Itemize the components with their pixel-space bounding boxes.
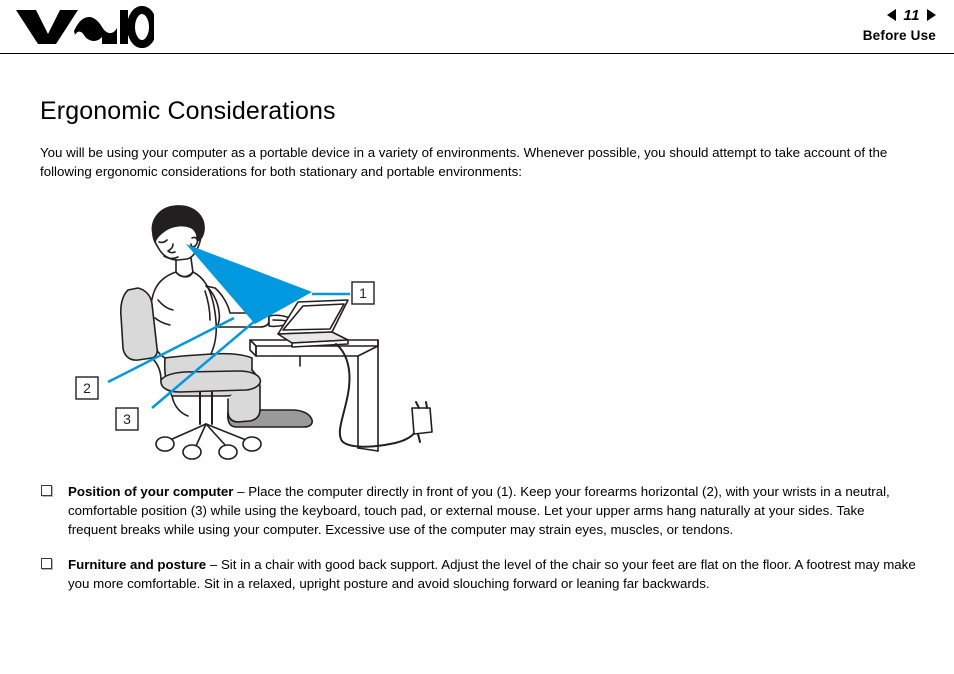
- list-item: Position of your computer – Place the co…: [40, 482, 916, 540]
- callout-3-label: 3: [123, 411, 131, 427]
- bullet-box-icon: [41, 558, 52, 569]
- ergonomic-posture-illustration: 1 2 3: [0, 196, 954, 476]
- callout-1-label: 1: [359, 285, 367, 301]
- header-navigation: 11 Before Use: [863, 5, 936, 43]
- bullet-box-icon: [41, 485, 52, 496]
- page-number: 11: [903, 7, 920, 24]
- section-title: Before Use: [863, 28, 936, 43]
- page-header: 11 Before Use: [0, 0, 954, 54]
- previous-page-arrow-icon[interactable]: [887, 9, 896, 21]
- vaio-logo: [14, 4, 154, 48]
- page-title: Ergonomic Considerations: [40, 97, 954, 126]
- page-content: Ergonomic Considerations You will be usi…: [0, 55, 954, 608]
- list-item: Furniture and posture – Sit in a chair w…: [40, 555, 916, 594]
- intro-paragraph: You will be using your computer as a por…: [40, 144, 912, 182]
- ergonomic-bullet-list: Position of your computer – Place the co…: [40, 482, 916, 593]
- list-item-term: Furniture and posture: [68, 557, 206, 572]
- list-item-term: Position of your computer: [68, 484, 233, 499]
- next-page-arrow-icon[interactable]: [927, 9, 936, 21]
- callout-2-label: 2: [83, 380, 91, 396]
